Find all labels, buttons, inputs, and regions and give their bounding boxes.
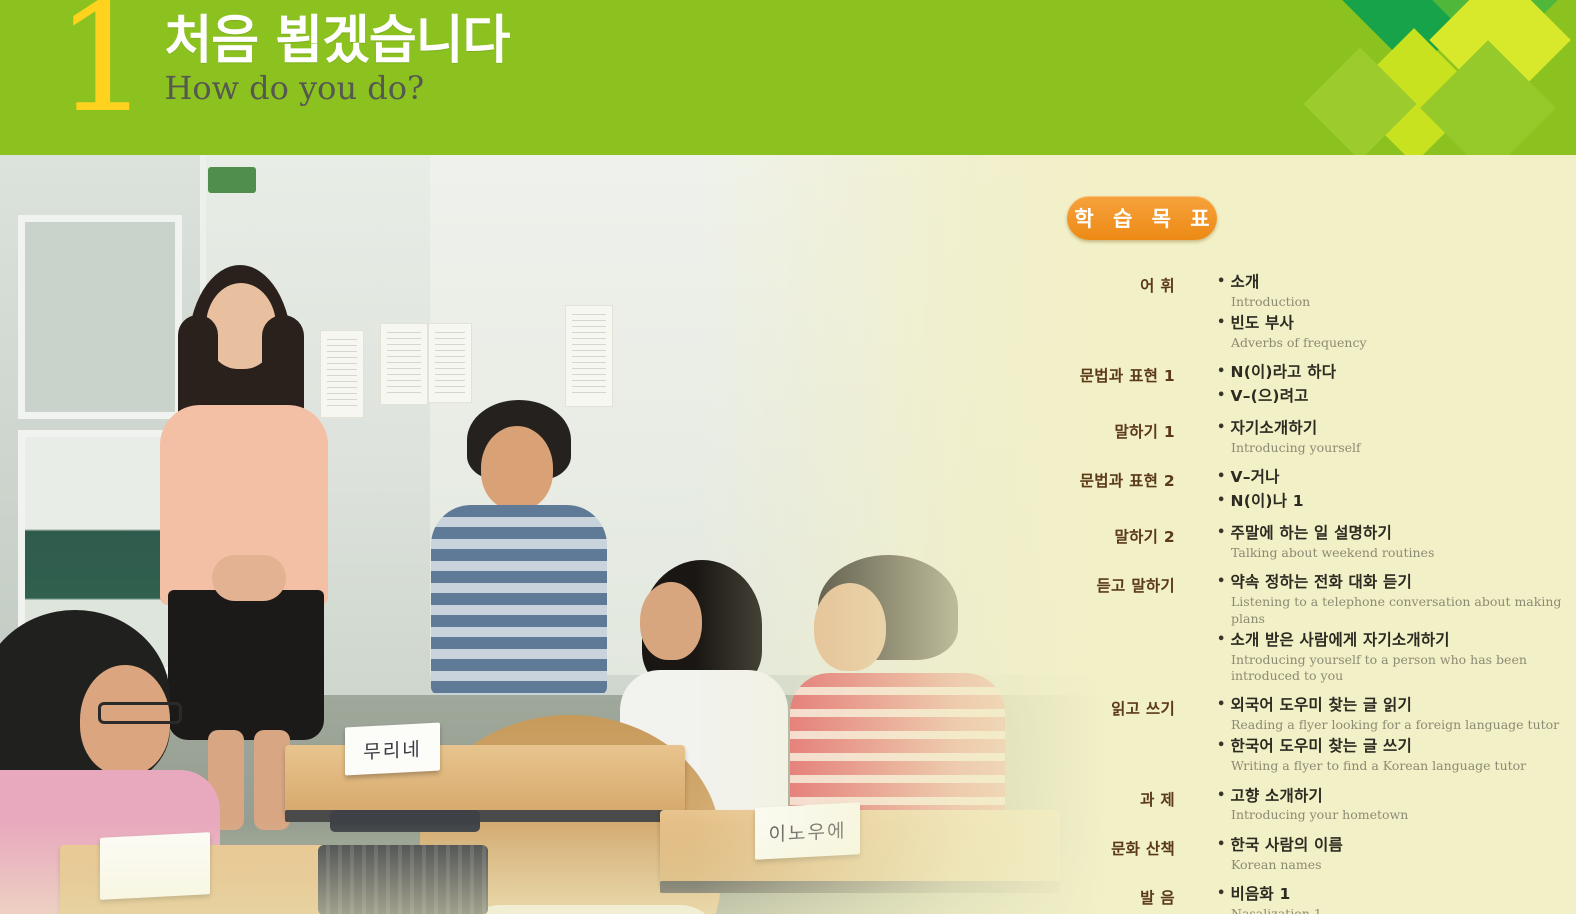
objective-items: •비음화 1Nasalization 1 — [1217, 884, 1576, 914]
objective-row: 발 음•비음화 1Nasalization 1 — [1060, 884, 1576, 914]
objective-text-korean: •빈도 부사 — [1217, 313, 1576, 334]
chapter-number: 1 — [55, 0, 146, 127]
objective-text-english: Talking about weekend routines — [1231, 545, 1576, 561]
bullet-icon: • — [1217, 364, 1226, 379]
head — [640, 582, 702, 660]
torso-striped-shirt — [431, 505, 607, 695]
objective-text-korean: •비음화 1 — [1217, 884, 1576, 905]
objective-text-korean: •고향 소개하기 — [1217, 786, 1576, 807]
objective-row: 듣고 말하기•약속 정하는 전화 대화 듣기Listening to a tel… — [1060, 572, 1576, 687]
objective-text-korean: •한국어 도우미 찾는 글 쓰기 — [1217, 736, 1576, 757]
objective-row: 문법과 표현 1•N(이)라고 하다•V–(으)려고 — [1060, 362, 1576, 410]
name-card: 이노우에 — [755, 802, 860, 860]
objective-korean-label: 빈도 부사 — [1231, 314, 1294, 332]
bullet-icon: • — [1217, 697, 1226, 712]
objective-text-english: Reading a flyer looking for a foreign la… — [1231, 717, 1576, 733]
chapter-header-content: 1 처음 뵙겠습니다 How do you do? — [55, 0, 509, 127]
seated-student-striped — [425, 400, 610, 730]
objective-text-korean: •외국어 도우미 찾는 글 읽기 — [1217, 695, 1576, 716]
bullet-icon: • — [1217, 493, 1226, 508]
objective-row: 읽고 쓰기•외국어 도우미 찾는 글 읽기Reading a flyer loo… — [1060, 695, 1576, 777]
objective-category-label: 문화 산책 — [1060, 835, 1175, 859]
objective-text-korean: •약속 정하는 전화 대화 듣기 — [1217, 572, 1576, 593]
objective-text-korean: •V–(으)려고 — [1217, 386, 1576, 407]
chapter-title-block: 처음 뵙겠습니다 How do you do? — [164, 0, 509, 106]
objective-korean-label: 외국어 도우미 찾는 글 읽기 — [1231, 696, 1412, 714]
wall-poster — [565, 305, 613, 407]
name-card: 무리네 — [345, 723, 440, 776]
bullet-icon: • — [1217, 388, 1226, 403]
textbook-chapter-opener-page: 1 처음 뵙겠습니다 How do you do? — [0, 0, 1576, 914]
objective-text-korean: •N(이)나 1 — [1217, 491, 1576, 512]
objective-item: •고향 소개하기Introducing your hometown — [1217, 786, 1576, 824]
objective-korean-label: N(이)나 1 — [1231, 492, 1304, 510]
objective-items: •주말에 하는 일 설명하기Talking about weekend rout… — [1217, 523, 1576, 564]
chapter-header-band: 1 처음 뵙겠습니다 How do you do? — [0, 0, 1576, 155]
objective-items: •N(이)라고 하다•V–(으)려고 — [1217, 362, 1576, 410]
objective-text-english: Adverbs of frequency — [1231, 335, 1576, 351]
objective-items: •소개Introduction•빈도 부사Adverbs of frequenc… — [1217, 272, 1576, 354]
eyeglasses — [98, 702, 182, 724]
bullet-icon: • — [1217, 420, 1226, 435]
objective-category-label: 발 음 — [1060, 884, 1175, 908]
objective-item: •외국어 도우미 찾는 글 읽기Reading a flyer looking … — [1217, 695, 1576, 733]
desk — [660, 810, 1060, 885]
bullet-icon: • — [1217, 886, 1226, 901]
objective-korean-label: N(이)라고 하다 — [1231, 363, 1337, 381]
objective-text-korean: •소개 받은 사람에게 자기소개하기 — [1217, 630, 1576, 651]
wall-poster — [428, 323, 472, 403]
objectives-rows: 어 휘•소개Introduction•빈도 부사Adverbs of frequ… — [1060, 272, 1576, 914]
bullet-icon: • — [1217, 574, 1226, 589]
decorative-diamond-pattern — [1300, 0, 1576, 155]
head — [481, 426, 553, 510]
objective-category-label: 문법과 표현 1 — [1060, 362, 1175, 386]
objective-row: 문화 산책•한국 사람의 이름Korean names — [1060, 835, 1576, 876]
objective-text-korean: •N(이)라고 하다 — [1217, 362, 1576, 383]
objective-korean-label: 한국 사람의 이름 — [1231, 836, 1343, 854]
objective-korean-label: 소개 — [1231, 273, 1260, 291]
objective-korean-label: 비음화 1 — [1231, 885, 1291, 903]
objective-item: •빈도 부사Adverbs of frequency — [1217, 313, 1576, 351]
objective-row: 과 제•고향 소개하기Introducing your hometown — [1060, 786, 1576, 827]
objective-items: •고향 소개하기Introducing your hometown — [1217, 786, 1576, 827]
learning-objectives-badge: 학 습 목 표 — [1067, 196, 1217, 240]
objective-text-english: Introducing yourself to a person who has… — [1231, 652, 1576, 685]
bullet-icon: • — [1217, 837, 1226, 852]
objective-category-label: 문법과 표현 2 — [1060, 467, 1175, 491]
bullet-icon: • — [1217, 632, 1226, 647]
objective-row: 어 휘•소개Introduction•빈도 부사Adverbs of frequ… — [1060, 272, 1576, 354]
objective-text-english: Writing a flyer to find a Korean languag… — [1231, 758, 1576, 774]
objective-category-label: 어 휘 — [1060, 272, 1175, 296]
objective-row: 말하기 2•주말에 하는 일 설명하기Talking about weekend… — [1060, 523, 1576, 564]
desk-edge — [660, 881, 1060, 893]
objective-korean-label: 주말에 하는 일 설명하기 — [1231, 524, 1392, 542]
objective-text-english: Listening to a telephone conversation ab… — [1231, 594, 1576, 627]
blank-name-card — [100, 832, 210, 900]
objective-items: •한국 사람의 이름Korean names — [1217, 835, 1576, 876]
bullet-icon: • — [1217, 788, 1226, 803]
torso — [460, 905, 720, 914]
head — [814, 583, 886, 671]
objective-category-label: 말하기 2 — [1060, 523, 1175, 547]
seated-student-red-polo — [790, 555, 1010, 815]
objective-korean-label: 고향 소개하기 — [1231, 787, 1323, 805]
bullet-icon: • — [1217, 525, 1226, 540]
objective-item: •주말에 하는 일 설명하기Talking about weekend rout… — [1217, 523, 1576, 561]
objective-item: •한국 사람의 이름Korean names — [1217, 835, 1576, 873]
bullet-icon: • — [1217, 274, 1226, 289]
chapter-title-korean: 처음 뵙겠습니다 — [164, 14, 509, 69]
objective-korean-label: V–거나 — [1231, 468, 1280, 486]
wall-poster — [380, 323, 428, 405]
chair — [330, 810, 480, 832]
objective-item: •한국어 도우미 찾는 글 쓰기Writing a flyer to find … — [1217, 736, 1576, 774]
hands — [212, 555, 286, 601]
objective-category-label: 과 제 — [1060, 786, 1175, 810]
objective-item: •N(이)나 1 — [1217, 491, 1576, 512]
objective-items: •V–거나•N(이)나 1 — [1217, 467, 1576, 515]
objective-text-korean: •V–거나 — [1217, 467, 1576, 488]
objective-text-english: Introducing yourself — [1231, 440, 1576, 456]
objective-text-korean: •주말에 하는 일 설명하기 — [1217, 523, 1576, 544]
objective-item: •V–(으)려고 — [1217, 386, 1576, 407]
objective-item: •비음화 1Nasalization 1 — [1217, 884, 1576, 914]
objective-item: •V–거나 — [1217, 467, 1576, 488]
objective-text-english: Introducing your hometown — [1231, 807, 1576, 823]
objective-text-english: Korean names — [1231, 857, 1576, 873]
objective-item: •N(이)라고 하다 — [1217, 362, 1576, 383]
objective-text-korean: •자기소개하기 — [1217, 418, 1576, 439]
objective-korean-label: 자기소개하기 — [1231, 419, 1318, 437]
learning-objectives-panel: 학 습 목 표 어 휘•소개Introduction•빈도 부사Adverbs … — [1060, 196, 1576, 914]
objective-row: 문법과 표현 2•V–거나•N(이)나 1 — [1060, 467, 1576, 515]
objective-korean-label: V–(으)려고 — [1231, 387, 1309, 405]
objective-row: 말하기 1•자기소개하기Introducing yourself — [1060, 418, 1576, 459]
objective-item: •소개 받은 사람에게 자기소개하기Introducing yourself t… — [1217, 630, 1576, 684]
classroom-photo: 무리네 이노우에 — [0, 155, 1120, 914]
objective-korean-label: 소개 받은 사람에게 자기소개하기 — [1231, 631, 1450, 649]
objective-korean-label: 한국어 도우미 찾는 글 쓰기 — [1231, 737, 1412, 755]
chapter-subtitle-english: How do you do? — [164, 71, 509, 106]
exit-sign — [208, 167, 256, 193]
objective-item: •약속 정하는 전화 대화 듣기Listening to a telephone… — [1217, 572, 1576, 626]
chair — [318, 845, 488, 914]
torso-red-polo — [790, 673, 1005, 823]
objective-category-label: 읽고 쓰기 — [1060, 695, 1175, 719]
bullet-icon: • — [1217, 469, 1226, 484]
objective-items: •자기소개하기Introducing yourself — [1217, 418, 1576, 459]
bullet-icon: • — [1217, 738, 1226, 753]
objective-item: •자기소개하기Introducing yourself — [1217, 418, 1576, 456]
objective-text-english: Nasalization 1 — [1231, 906, 1576, 914]
objective-items: •외국어 도우미 찾는 글 읽기Reading a flyer looking … — [1217, 695, 1576, 777]
objective-text-korean: •소개 — [1217, 272, 1576, 293]
bullet-icon: • — [1217, 315, 1226, 330]
objective-text-english: Introduction — [1231, 294, 1576, 310]
objective-items: •약속 정하는 전화 대화 듣기Listening to a telephone… — [1217, 572, 1576, 687]
objective-category-label: 말하기 1 — [1060, 418, 1175, 442]
objective-category-label: 듣고 말하기 — [1060, 572, 1175, 596]
objective-korean-label: 약속 정하는 전화 대화 듣기 — [1231, 573, 1412, 591]
objective-item: •소개Introduction — [1217, 272, 1576, 310]
objective-text-korean: •한국 사람의 이름 — [1217, 835, 1576, 856]
